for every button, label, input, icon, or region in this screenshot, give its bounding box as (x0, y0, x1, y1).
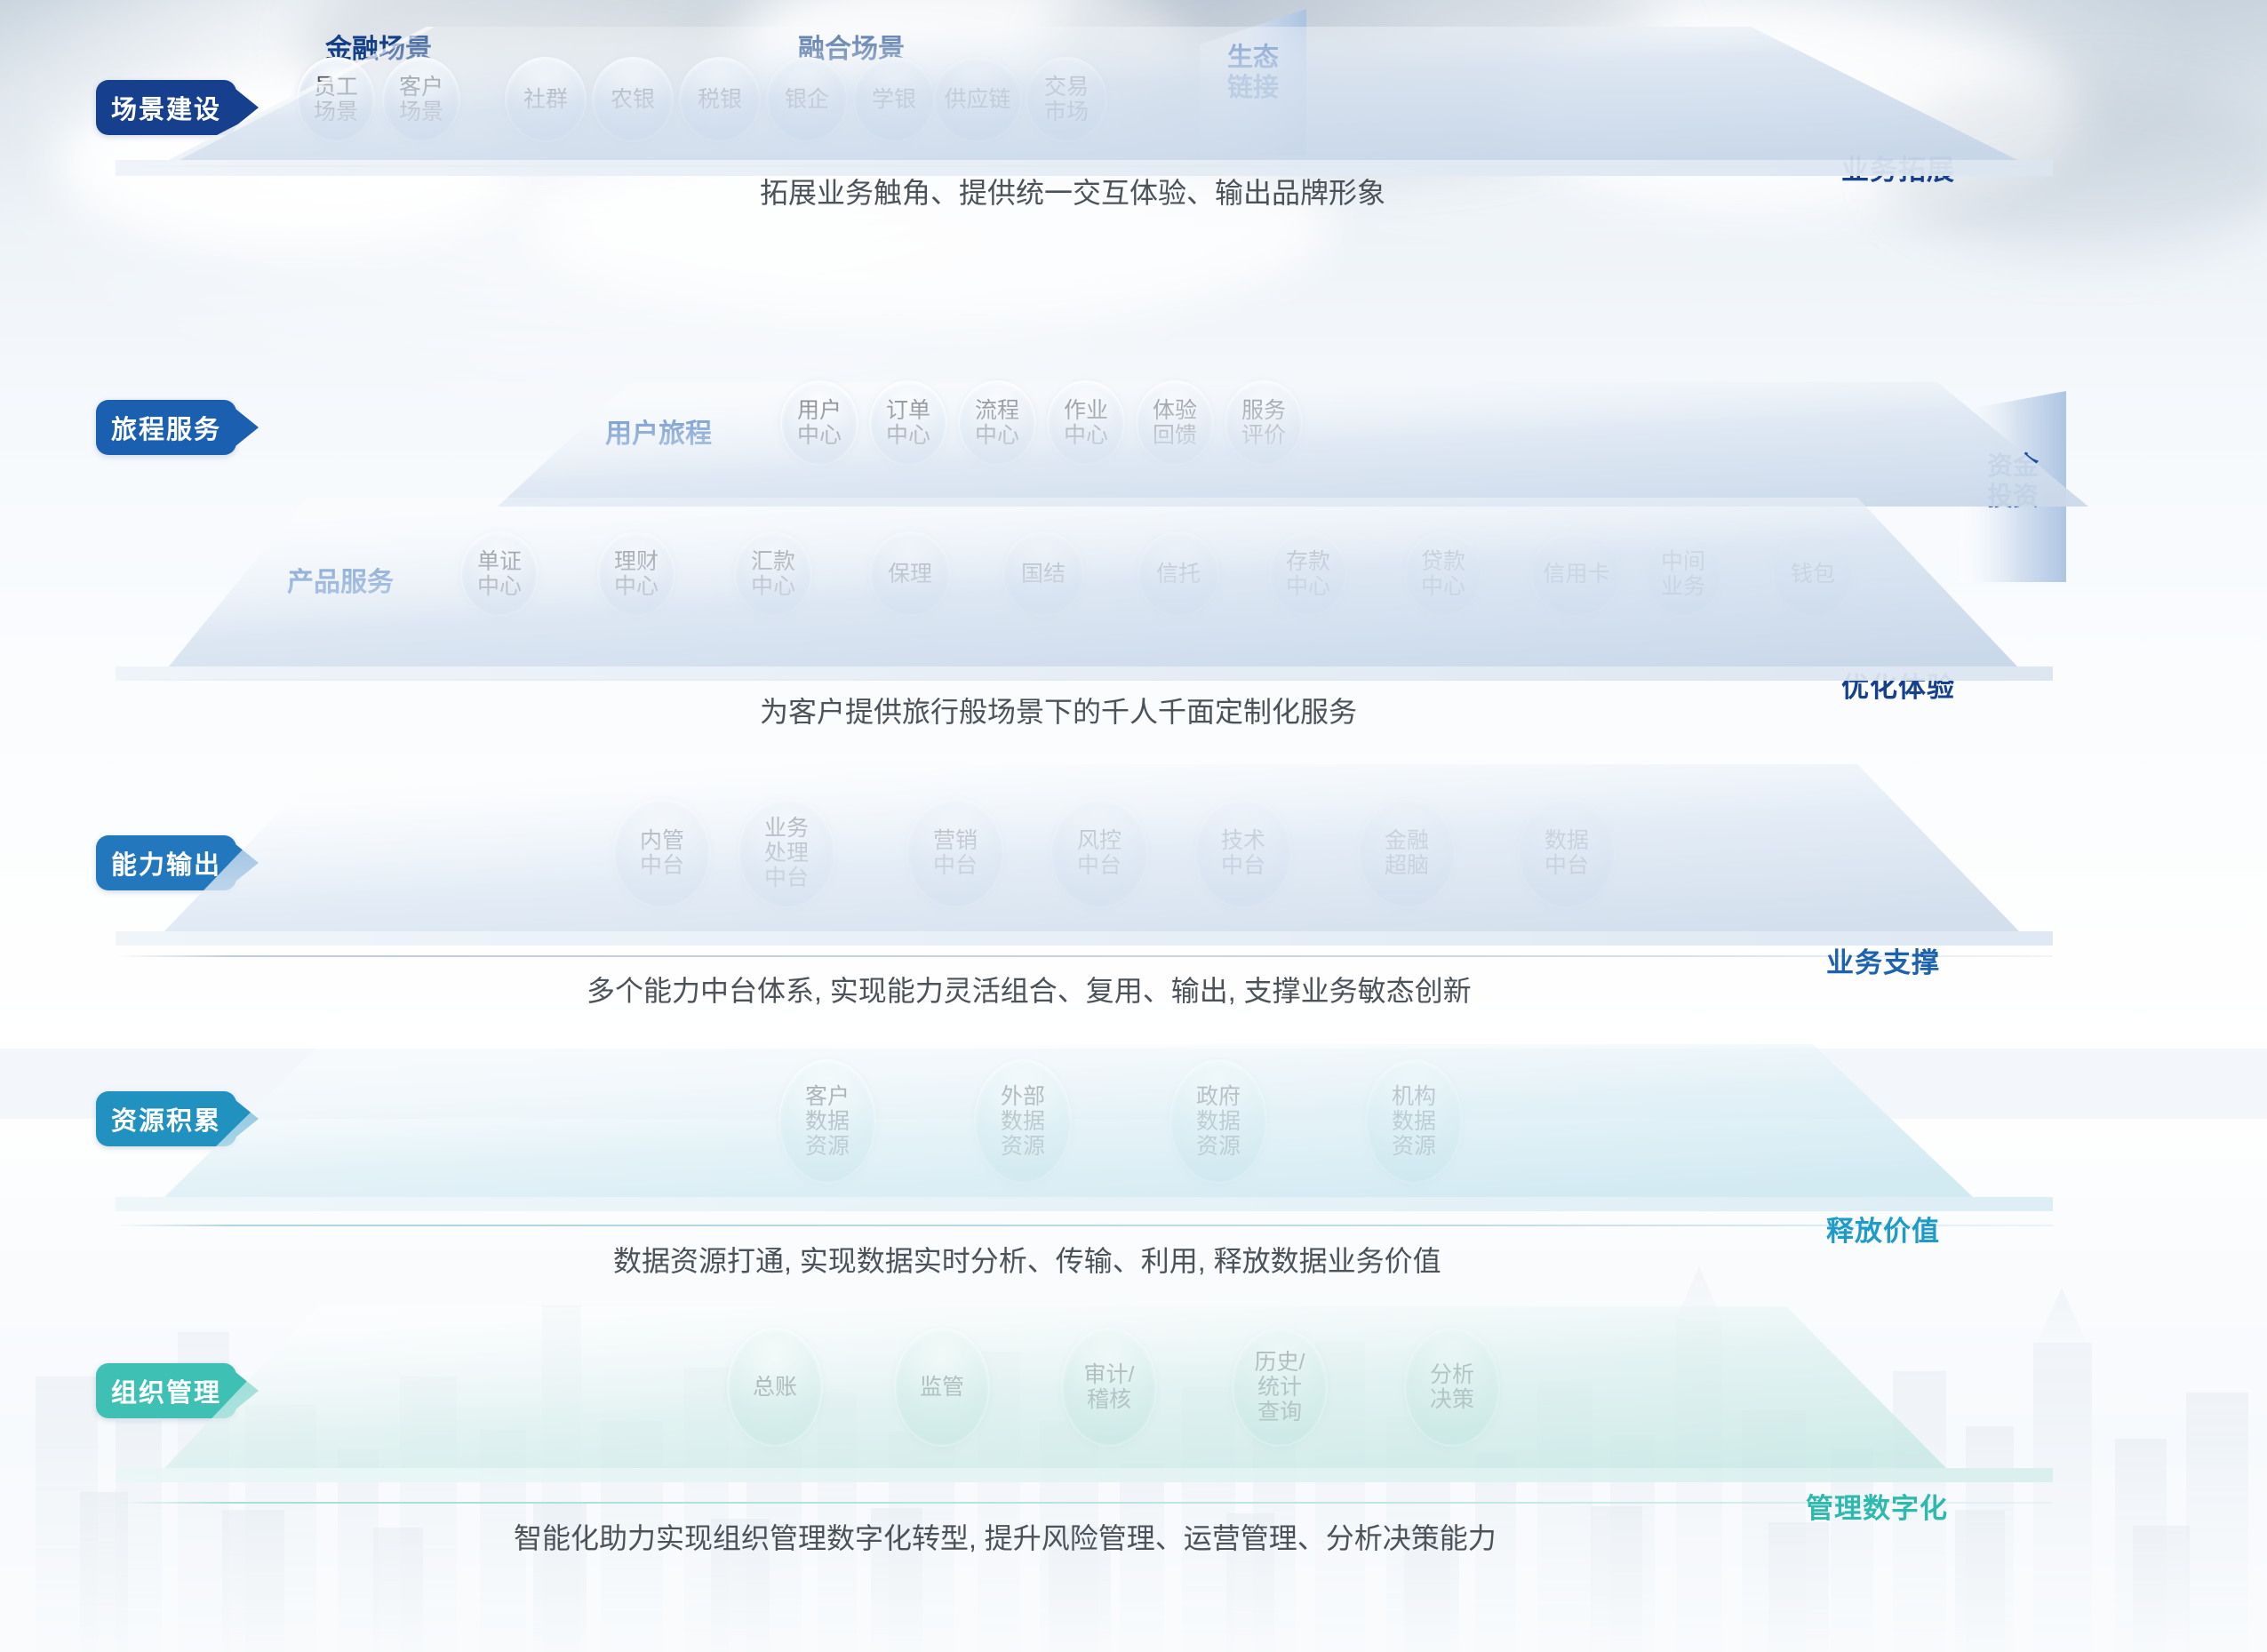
node-remittance-center[interactable]: 汇款 中心 (734, 531, 812, 617)
node-business-processing-platform[interactable]: 业务 处理 中台 (738, 798, 835, 908)
node-wealth-center[interactable]: 理财 中心 (597, 531, 675, 617)
badge-label: 能力输出 (111, 844, 221, 882)
platform-layer-2-product (116, 498, 2053, 693)
architecture-diagram: 场景建设 金融场景 融合场景 员工 场景 客户 场景 社群 农银 税银 银企 学… (0, 0, 2267, 1652)
node-label: 单证 中心 (477, 549, 522, 599)
node-label: 国结 (1021, 562, 1066, 587)
node-technology-platform[interactable]: 技术 中台 (1194, 798, 1292, 908)
node-label: 客户 数据 资源 (805, 1084, 850, 1159)
node-label: 流程 中心 (975, 398, 1019, 448)
node-label: 钱包 (1791, 562, 1835, 587)
node-label: 农银 (611, 87, 655, 112)
node-label: 作业 中心 (1064, 398, 1108, 448)
node-credit-card[interactable]: 信用卡 (1530, 531, 1623, 617)
node-process-center[interactable]: 流程 中心 (958, 380, 1036, 466)
node-label: 业务 处理 中台 (764, 816, 809, 890)
node-label: 信用卡 (1543, 562, 1609, 587)
divider-layer-3 (116, 955, 2053, 957)
badge-organization-management[interactable]: 组织管理 (96, 1363, 236, 1418)
node-label: 风控 中台 (1077, 828, 1122, 878)
node-label: 分析 决策 (1430, 1362, 1474, 1412)
node-label: 机构 数据 资源 (1392, 1084, 1436, 1159)
badge-resource-accumulation[interactable]: 资源积累 (96, 1091, 236, 1146)
node-trading-market[interactable]: 交易 市场 (1026, 57, 1107, 142)
node-label: 总账 (753, 1375, 797, 1400)
node-customer-data-resource[interactable]: 客户 数据 资源 (778, 1059, 876, 1184)
node-customer-scene[interactable]: 客户 场景 (382, 57, 460, 142)
node-label: 中间 业务 (1661, 549, 1705, 599)
node-label: 员工 场景 (314, 75, 358, 124)
tagline-layer-2: 为客户提供旅行般场景下的千人千面定制化服务 (760, 690, 1357, 730)
tagline-layer-4: 数据资源打通, 实现数据实时分析、传输、利用, 释放数据业务价值 (613, 1239, 1441, 1280)
node-user-center[interactable]: 用户 中心 (780, 380, 858, 466)
divider-layer-1 (116, 165, 2053, 167)
node-label: 审计/ 稽核 (1084, 1362, 1135, 1412)
tagline-layer-5: 智能化助力实现组织管理数字化转型, 提升风险管理、运营管理、分析决策能力 (514, 1516, 1497, 1557)
tagline-layer-1: 拓展业务触角、提供统一交互体验、输出品牌形象 (760, 171, 1385, 211)
node-label: 历史/ 统计 查询 (1255, 1350, 1305, 1425)
node-label: 贷款 中心 (1421, 549, 1465, 599)
group-caption-user-journey: 用户旅程 (605, 411, 712, 451)
node-label: 外部 数据 资源 (1001, 1084, 1045, 1159)
node-institution-data-resource[interactable]: 机构 数据 资源 (1365, 1059, 1463, 1184)
node-label: 理财 中心 (614, 549, 659, 599)
tagline-layer-3: 多个能力中台体系, 实现能力灵活组合、复用、输出, 支撑业务敏态创新 (587, 969, 1472, 1010)
node-label: 客户 场景 (399, 75, 443, 124)
node-label: 营销 中台 (933, 828, 978, 878)
node-factoring[interactable]: 保理 (869, 531, 951, 617)
node-external-data-resource[interactable]: 外部 数据 资源 (974, 1059, 1072, 1184)
node-data-platform[interactable]: 数据 中台 (1518, 798, 1616, 908)
side-banner-ecosystem-link-label: 生态 链接 (1200, 43, 1306, 103)
group-caption-product-service: 产品服务 (287, 560, 394, 599)
node-school-bank[interactable]: 学银 (853, 57, 935, 142)
platform-layer-4 (116, 1044, 2053, 1226)
node-order-center[interactable]: 订单 中心 (869, 380, 947, 466)
node-label: 保理 (888, 562, 932, 587)
node-risk-control-platform[interactable]: 风控 中台 (1050, 798, 1148, 908)
node-internal-mgmt-platform[interactable]: 内管 中台 (613, 798, 711, 908)
badge-label: 组织管理 (111, 1372, 221, 1409)
keyword-management-digitalization: 管理数字化 (1806, 1486, 1948, 1526)
node-label: 政府 数据 资源 (1196, 1084, 1241, 1159)
node-bank-enterprise[interactable]: 银企 (766, 57, 848, 142)
node-agri-bank[interactable]: 农银 (592, 57, 674, 142)
node-label: 服务 评价 (1241, 398, 1286, 448)
badge-label: 场景建设 (111, 89, 221, 126)
node-label: 社群 (523, 87, 568, 112)
badge-journey-service[interactable]: 旅程服务 (96, 400, 236, 455)
keyword-release-value: 释放价值 (1826, 1209, 1940, 1249)
node-history-statistics-query[interactable]: 历史/ 统计 查询 (1232, 1328, 1328, 1447)
node-tax-bank[interactable]: 税银 (679, 57, 761, 142)
node-label: 用户 中心 (797, 398, 842, 448)
node-government-data-resource[interactable]: 政府 数据 资源 (1169, 1059, 1267, 1184)
node-intermediary-business[interactable]: 中间 业务 (1644, 531, 1722, 617)
node-general-ledger[interactable]: 总账 (727, 1328, 823, 1447)
node-loan-center[interactable]: 贷款 中心 (1404, 531, 1482, 617)
node-label: 信托 (1156, 562, 1201, 587)
side-banner-capital-investment-label: 资金 投资 (1960, 451, 2066, 512)
badge-scene-construction[interactable]: 场景建设 (96, 80, 236, 135)
node-trust[interactable]: 信托 (1137, 531, 1219, 617)
node-label: 汇款 中心 (751, 549, 795, 599)
badge-label: 旅程服务 (111, 409, 221, 446)
node-label: 数据 中台 (1545, 828, 1589, 878)
keyword-business-support: 业务支撑 (1826, 940, 1940, 980)
node-label: 存款 中心 (1286, 549, 1330, 599)
node-label: 学银 (872, 87, 916, 112)
node-label: 体验 回馈 (1153, 398, 1197, 448)
node-audit-inspection[interactable]: 审计/ 稽核 (1061, 1328, 1157, 1447)
node-label: 内管 中台 (640, 828, 684, 878)
node-operation-center[interactable]: 作业 中心 (1047, 380, 1125, 466)
node-employee-scene[interactable]: 员工 场景 (297, 57, 375, 142)
node-financial-brain[interactable]: 金融 超脑 (1358, 798, 1456, 908)
node-label: 银企 (785, 87, 829, 112)
divider-layer-5 (116, 1502, 2053, 1504)
node-experience-feedback[interactable]: 体验 回馈 (1136, 380, 1214, 466)
node-label: 交易 市场 (1044, 75, 1089, 124)
badge-capability-output[interactable]: 能力输出 (96, 835, 236, 890)
divider-layer-4 (116, 1225, 2053, 1226)
node-supervision[interactable]: 监管 (894, 1328, 990, 1447)
node-label: 税银 (698, 87, 742, 112)
node-deposit-center[interactable]: 存款 中心 (1269, 531, 1347, 617)
node-community[interactable]: 社群 (505, 57, 587, 142)
node-document-center[interactable]: 单证 中心 (460, 531, 539, 617)
badge-label: 资源积累 (111, 1100, 221, 1137)
node-label: 监管 (920, 1375, 964, 1400)
node-analysis-decision[interactable]: 分析 决策 (1404, 1328, 1500, 1447)
node-label: 金融 超脑 (1385, 828, 1429, 878)
node-marketing-platform[interactable]: 营销 中台 (906, 798, 1004, 908)
node-label: 订单 中心 (886, 398, 930, 448)
node-label: 技术 中台 (1221, 828, 1265, 878)
node-wallet[interactable]: 钱包 (1772, 531, 1854, 617)
node-supply-chain[interactable]: 供应链 (933, 57, 1022, 142)
divider-layer-2 (116, 679, 2053, 681)
node-label: 供应链 (944, 87, 1010, 112)
keyword-optimize-experience: 优化体验 (1841, 665, 1955, 705)
node-service-evaluation[interactable]: 服务 评价 (1225, 380, 1303, 466)
node-intl-settlement[interactable]: 国结 (1002, 531, 1084, 617)
keyword-business-expansion: 业务拓展 (1841, 148, 1955, 188)
